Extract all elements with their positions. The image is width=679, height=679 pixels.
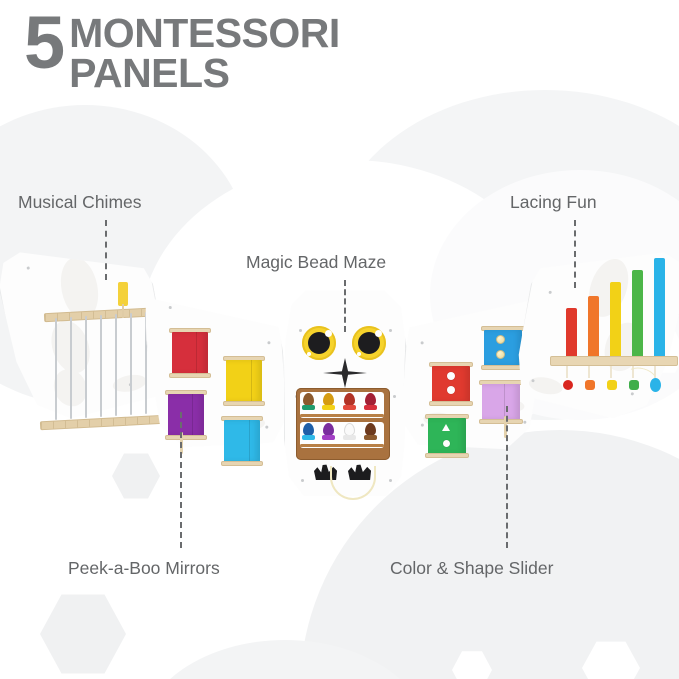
lacing-peg — [566, 366, 568, 378]
callout-peek-a-boo-mirrors: Peek-a-Boo Mirrors — [68, 558, 220, 579]
slider-tile-blue[interactable] — [484, 330, 522, 366]
title-line-2: PANELS — [69, 53, 340, 93]
chime-rod[interactable] — [100, 315, 102, 417]
chime-rod[interactable] — [130, 313, 132, 415]
chime-rod[interactable] — [70, 317, 72, 419]
lacing-peg — [610, 366, 612, 378]
maze-bead-base — [302, 435, 315, 440]
callout-musical-chimes: Musical Chimes — [18, 192, 142, 213]
lacing-bar-green[interactable] — [632, 270, 643, 358]
mallet-head[interactable] — [118, 282, 128, 306]
chime-rod[interactable] — [85, 316, 87, 418]
maze-bead-base — [364, 435, 377, 440]
maze-bead-base — [364, 405, 377, 410]
chime-rod[interactable] — [55, 318, 57, 420]
page-title: 5 MONTESSORI PANELS — [24, 8, 340, 93]
mirror-door-yellow[interactable] — [226, 360, 262, 402]
leader-line-magic-bead-maze — [344, 280, 346, 332]
lacing-bar-yellow[interactable] — [610, 282, 621, 358]
maze-bead-base — [322, 435, 335, 440]
callout-magic-bead-maze: Magic Bead Maze — [246, 252, 386, 273]
title-line-1: MONTESSORI — [69, 13, 340, 53]
callout-lacing-fun: Lacing Fun — [510, 192, 597, 213]
maze-rail — [300, 444, 384, 447]
maze-rail — [300, 414, 384, 417]
mirror-door-purple[interactable] — [168, 394, 204, 436]
maze-bead-base — [302, 405, 315, 410]
lacing-bead-red[interactable] — [563, 380, 573, 390]
title-count: 5 — [24, 8, 69, 78]
lacing-bar-orange[interactable] — [588, 296, 599, 358]
mirror-door-cyan[interactable] — [224, 420, 260, 462]
lacing-bead-orange[interactable] — [585, 380, 595, 390]
lacing-bar-red[interactable] — [566, 308, 577, 358]
hexagon-icon — [340, 78, 392, 130]
leader-line-color-shape-slider — [506, 406, 508, 548]
mirror-door-red[interactable] — [172, 332, 208, 374]
callout-color-shape-slider: Color & Shape Slider — [390, 558, 553, 579]
maze-bead-base — [343, 405, 356, 410]
slider-tile-red[interactable] — [432, 366, 470, 402]
owl-eye-left — [302, 326, 336, 360]
hexagon-icon — [40, 592, 126, 676]
panel-peek-a-boo-mirrors — [143, 281, 290, 452]
maze-bead-base — [343, 435, 356, 440]
owl-eye-right — [352, 326, 386, 360]
leader-line-lacing-fun — [574, 220, 576, 288]
lacing-shelf — [550, 356, 678, 366]
lacing-bead-yellow[interactable] — [607, 380, 617, 390]
lacing-peg — [588, 366, 590, 378]
chime-bottom-rail — [40, 415, 166, 431]
chime-rod[interactable] — [115, 314, 117, 416]
slider-tile-green[interactable] — [428, 418, 466, 454]
product-illustration — [0, 228, 679, 528]
lacing-bar-blue[interactable] — [654, 258, 665, 358]
slider-tile-purple[interactable] — [482, 384, 520, 420]
maze-bead-base — [322, 405, 335, 410]
leader-line-musical-chimes — [105, 220, 107, 280]
infographic-canvas: 5 MONTESSORI PANELS — [0, 0, 679, 679]
mallet-stick — [122, 304, 124, 318]
leader-line-peek-a-boo-mirrors — [180, 412, 182, 548]
